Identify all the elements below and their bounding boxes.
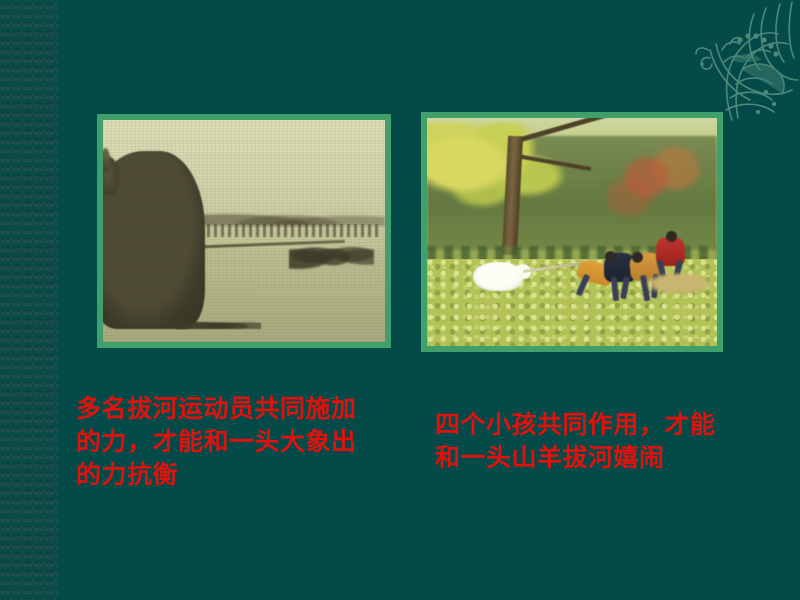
- children-goat-tug-of-war-photo: [421, 112, 723, 352]
- red-autumn-foliage: [607, 141, 706, 232]
- caption-right-photo: 四个小孩共同作用，才能和一头山羊拔河嬉闹: [435, 408, 740, 474]
- left-texture-band: [0, 0, 58, 600]
- elephant-tug-of-war-photo: [97, 114, 391, 348]
- straw-pile: [647, 273, 711, 294]
- child-head: [605, 251, 616, 262]
- child-head: [631, 251, 643, 263]
- slide-canvas: 多名拔河运动员共同施加的力，才能和一头大象出的力抗衡 四个小孩共同作用，才能和一…: [0, 0, 800, 600]
- photo-content: [103, 120, 385, 342]
- caption-left-photo: 多名拔河运动员共同施加的力，才能和一头大象出的力抗衡: [76, 392, 366, 491]
- photo-grain-overlay: [103, 120, 385, 342]
- phoenix-ornament-icon: [680, 0, 800, 130]
- photo-content: [427, 118, 717, 346]
- child-pulling-rope: [656, 237, 685, 267]
